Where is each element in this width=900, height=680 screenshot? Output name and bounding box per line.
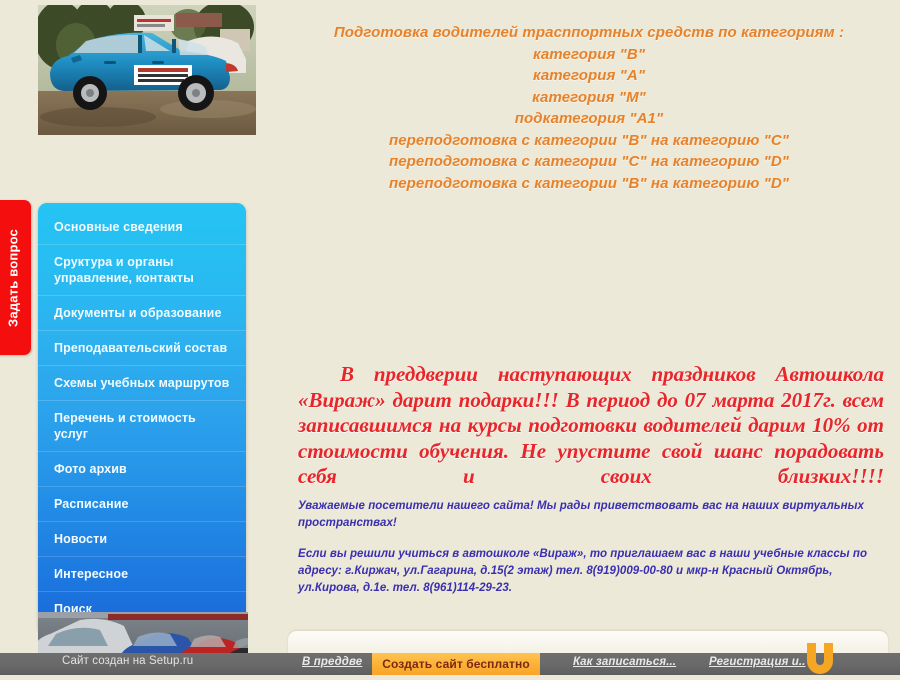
sidebar-item-perechen-stoimost[interactable]: Перечень и стоимость услуг (38, 400, 246, 451)
footer-link-how-to-enroll[interactable]: Как записаться... (573, 656, 676, 668)
intro-paragraph-greeting: Уважаемые посетители нашего сайта! Мы ра… (298, 498, 884, 532)
sidebar-item-raspisanie[interactable]: Расписание (38, 486, 246, 521)
sidebar-item-label: Сруктура и органы управление, контакты (54, 254, 232, 286)
sidebar-item-shemy-marshrutov[interactable]: Схемы учебных маршрутов (38, 365, 246, 400)
sidebar-item-novosti[interactable]: Новости (38, 521, 246, 556)
sidebar-item-label: Расписание (54, 496, 129, 512)
sidebar-item-foto-arhiv[interactable]: Фото архив (38, 451, 246, 486)
sidebar-item-label: Схемы учебных маршрутов (54, 375, 229, 391)
header-line-7: переподготовка с категории "В" на катего… (285, 173, 893, 195)
sidebar-item-label: Новости (54, 531, 107, 547)
header-line-0: Подготовка водителей трасnпортных средст… (285, 22, 893, 44)
sidebar-item-prepodavatelskiy-sostav[interactable]: Преподавательский состав (38, 330, 246, 365)
page-title: Подготовка водителей трасnпортных средст… (285, 22, 893, 194)
sidebar-item-label: Документы и образование (54, 305, 222, 321)
sidebar-item-dokumenty-obrazovanie[interactable]: Документы и образование (38, 295, 246, 330)
header-line-4: подкатегория "А1" (285, 108, 893, 130)
promotion-announcement: В преддверии наступающих праздников Авто… (298, 362, 884, 515)
ask-question-tab[interactable]: Задать вопрос (0, 200, 31, 355)
top-car-photo (38, 5, 256, 135)
intro-paragraph-address: Если вы решили учиться в автошколе «Вира… (298, 546, 884, 597)
footer-link-registration[interactable]: Регистрация и.. (709, 656, 805, 668)
header-line-6: переподготовка с категории "С" на катего… (285, 151, 893, 173)
blue-sedan-photo-illustration (38, 5, 256, 135)
intro-text-block: Уважаемые посетители нашего сайта! Мы ра… (298, 498, 884, 597)
sidebar-item-label: Преподавательский состав (54, 340, 227, 356)
sidebar-item-label: Основные сведения (54, 219, 183, 235)
sidebar-item-label: Фото архив (54, 461, 127, 477)
header-line-2: категория "А" (285, 65, 893, 87)
sidebar-item-struktura-kontakty[interactable]: Сруктура и органы управление, контакты (38, 244, 246, 295)
sidebar-item-interesnoe[interactable]: Интересное (38, 556, 246, 591)
header-line-3: категория "М" (285, 87, 893, 109)
header-line-5: переподготовка с категории "В" на катего… (285, 130, 893, 152)
create-site-button[interactable]: Создать сайт бесплатно (372, 653, 540, 675)
u-logo-icon (800, 641, 840, 675)
sidebar-item-label: Перечень и стоимость услуг (54, 410, 232, 442)
sidebar-item-label: Интересное (54, 566, 128, 582)
ask-question-label: Задать вопрос (6, 229, 21, 327)
setup-u-logo-icon[interactable] (800, 641, 840, 675)
sidebar-item-osnovnye-svedeniya[interactable]: Основные сведения (38, 210, 246, 244)
header-line-1: категория "В" (285, 44, 893, 66)
setup-credit-text: Сайт создан на Setup.ru (62, 655, 193, 667)
footer-link-promo[interactable]: В преддве (302, 656, 362, 668)
create-site-label: Создать сайт бесплатно (382, 657, 530, 671)
sidebar-nav: Основные сведения Сруктура и органы упра… (38, 203, 246, 635)
